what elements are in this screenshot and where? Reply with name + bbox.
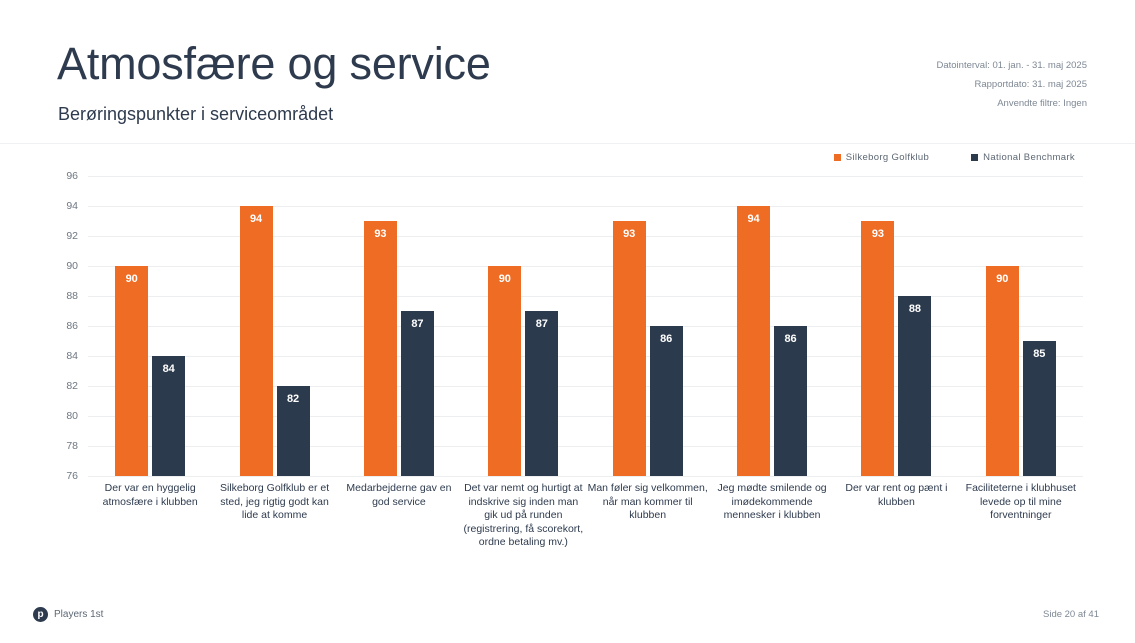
bar-value-label: 90 [986,273,1019,285]
bar-benchmark[interactable]: 85 [1023,341,1056,476]
bar-value-label: 93 [364,228,397,240]
bar-club[interactable]: 94 [240,206,273,476]
bar-benchmark[interactable]: 86 [650,326,683,476]
x-axis-category-label-line: ordne betaling mv.) [453,536,593,550]
x-axis-category-label-line: Der var rent og pænt i [826,482,966,496]
bar-value-label: 84 [152,363,185,375]
x-axis-category-label-line: (registrering, få scorekort, [453,523,593,537]
bar-club[interactable]: 90 [986,266,1019,476]
slide: Atmosfære og service Berøringspunkter i … [0,0,1135,643]
bar-value-label: 93 [613,228,646,240]
bars: 9085 [959,176,1083,476]
brand-name: Players 1st [54,609,103,620]
x-axis-category-label-line: klubben [578,509,718,523]
bar-benchmark[interactable]: 87 [525,311,558,476]
bar-value-label: 90 [488,273,521,285]
bar-group: 9482Silkeborg Golfklub er etsted, jeg ri… [212,176,336,476]
y-axis-tick-label: 88 [66,290,78,302]
x-axis-category-label-line: Jeg mødte smilende og [702,482,842,496]
x-axis-category-label: Faciliteterne i klubhusetlevede op til m… [951,482,1091,523]
bar-club[interactable]: 93 [364,221,397,476]
bar-value-label: 94 [240,213,273,225]
x-axis-category-label: Medarbejderne gav engod service [329,482,469,509]
x-axis-category-label-line: levede op til mine [951,496,1091,510]
y-axis-tick-label: 78 [66,440,78,452]
bars: 9387 [337,176,461,476]
x-axis-category-label-line: lide at komme [204,509,344,523]
bar-club[interactable]: 90 [115,266,148,476]
bar-value-label: 86 [650,333,683,345]
bar-benchmark[interactable]: 82 [277,386,310,476]
bar-group: 9388Der var rent og pænt iklubben [834,176,958,476]
brand-logo: p Players 1st [33,607,103,622]
bar-groups: 9084Der var en hyggeligatmosfære i klubb… [88,176,1083,476]
bar-value-label: 88 [898,303,931,315]
plot-area: 9694929088868482807876 9084Der var en hy… [88,176,1083,476]
players1st-logo-icon: p [33,607,48,622]
x-axis-category-label-line: gik ud på runden [453,509,593,523]
bar-group: 9486Jeg mødte smilende ogimødekommendeme… [710,176,834,476]
x-axis-category-label-line: Det var nemt og hurtigt at [453,482,593,496]
x-axis-category-label-line: klubben [826,496,966,510]
bars: 9386 [586,176,710,476]
y-axis-tick-label: 94 [66,200,78,212]
bars: 9388 [834,176,958,476]
bar-value-label: 86 [774,333,807,345]
bars: 9486 [710,176,834,476]
bar-club[interactable]: 90 [488,266,521,476]
bar-group: 9085Faciliteterne i klubhusetlevede op t… [959,176,1083,476]
bar-value-label: 87 [525,318,558,330]
bars: 9084 [88,176,212,476]
y-axis-tick-label: 76 [66,470,78,482]
gridline: 76 [88,476,1083,477]
x-axis-category-label-line: forventninger [951,509,1091,523]
bar-value-label: 82 [277,393,310,405]
x-axis-category-label-line: god service [329,496,469,510]
y-axis-tick-label: 90 [66,260,78,272]
x-axis-category-label: Der var en hyggeligatmosfære i klubben [80,482,220,509]
x-axis-category-label-line: når man kommer til [578,496,718,510]
x-axis-category-label-line: Man føler sig velkommen, [578,482,718,496]
bar-benchmark[interactable]: 88 [898,296,931,476]
bar-group: 9387Medarbejderne gav engod service [337,176,461,476]
x-axis-category-label-line: imødekommende [702,496,842,510]
bar-value-label: 93 [861,228,894,240]
x-axis-category-label-line: sted, jeg rigtig godt kan [204,496,344,510]
bar-group: 9386Man føler sig velkommen,når man komm… [586,176,710,476]
y-axis-tick-label: 82 [66,380,78,392]
bar-club[interactable]: 93 [613,221,646,476]
x-axis-category-label: Der var rent og pænt iklubben [826,482,966,509]
y-axis-tick-label: 80 [66,410,78,422]
bars: 9482 [212,176,336,476]
bar-benchmark[interactable]: 87 [401,311,434,476]
y-axis-tick-label: 84 [66,350,78,362]
x-axis-category-label-line: mennesker i klubben [702,509,842,523]
bar-group: 9087Det var nemt og hurtigt atindskrive … [461,176,585,476]
y-axis-tick-label: 86 [66,320,78,332]
bar-group: 9084Der var en hyggeligatmosfære i klubb… [88,176,212,476]
bar-value-label: 90 [115,273,148,285]
bar-club[interactable]: 94 [737,206,770,476]
bar-club[interactable]: 93 [861,221,894,476]
y-axis-tick-label: 92 [66,230,78,242]
slide-footer: p Players 1st Side 20 af 41 [0,597,1135,643]
x-axis-category-label-line: Medarbejderne gav en [329,482,469,496]
x-axis-category-label-line: Silkeborg Golfklub er et [204,482,344,496]
bar-chart: 9694929088868482807876 9084Der var en hy… [0,0,1135,643]
x-axis-category-label-line: indskrive sig inden man [453,496,593,510]
x-axis-category-label-line: atmosfære i klubben [80,496,220,510]
bar-value-label: 87 [401,318,434,330]
bar-value-label: 85 [1023,348,1056,360]
x-axis-category-label-line: Der var en hyggelig [80,482,220,496]
bars: 9087 [461,176,585,476]
x-axis-category-label: Jeg mødte smilende ogimødekommendemennes… [702,482,842,523]
page-number: Side 20 af 41 [1043,609,1099,620]
x-axis-category-label: Silkeborg Golfklub er etsted, jeg rigtig… [204,482,344,523]
x-axis-category-label: Man føler sig velkommen,når man kommer t… [578,482,718,523]
y-axis-tick-label: 96 [66,170,78,182]
x-axis-category-label: Det var nemt og hurtigt atindskrive sig … [453,482,593,550]
bar-value-label: 94 [737,213,770,225]
bar-benchmark[interactable]: 84 [152,356,185,476]
x-axis-category-label-line: Faciliteterne i klubhuset [951,482,1091,496]
bar-benchmark[interactable]: 86 [774,326,807,476]
